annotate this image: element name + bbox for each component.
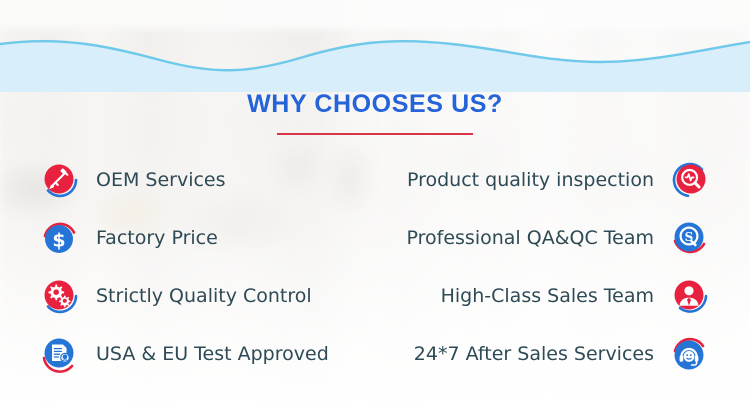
gears-icon — [38, 274, 82, 318]
headset-support-icon — [668, 332, 712, 376]
feature-label: Product quality inspection — [407, 169, 654, 191]
why-choose-us-banner: WHY CHOOSES US? — [0, 0, 750, 416]
feature-item[interactable]: Professional QA&QC Team S — [407, 216, 712, 260]
feature-label: USA & EU Test Approved — [96, 343, 329, 365]
feature-item[interactable]: OEM Services — [38, 158, 329, 202]
certificate-icon — [38, 332, 82, 376]
feature-item[interactable]: $ Factory Price — [38, 216, 329, 260]
heading-block: WHY CHOOSES US? — [0, 92, 750, 135]
features-columns: OEM Services $ Factory Price — [0, 158, 750, 376]
svg-text:$: $ — [52, 230, 65, 252]
features-right-column: Product quality inspection Professional … — [407, 158, 712, 376]
feature-label: High-Class Sales Team — [441, 285, 654, 307]
feature-label: 24*7 After Sales Services — [414, 343, 654, 365]
feature-item[interactable]: 24*7 After Sales Services — [407, 332, 712, 376]
quality-badge-icon: S — [668, 216, 712, 260]
businessman-icon — [668, 274, 712, 318]
feature-label: Strictly Quality Control — [96, 285, 312, 307]
feature-item[interactable]: Strictly Quality Control — [38, 274, 329, 318]
dollar-coin-icon: $ — [38, 216, 82, 260]
feature-item[interactable]: USA & EU Test Approved — [38, 332, 329, 376]
features-left-column: OEM Services $ Factory Price — [38, 158, 329, 376]
title-underline — [277, 133, 473, 135]
feature-item[interactable]: Product quality inspection — [407, 158, 712, 202]
top-wave-decoration — [0, 0, 750, 92]
svg-text:S: S — [685, 230, 694, 244]
feature-item[interactable]: High-Class Sales Team — [407, 274, 712, 318]
pen-design-icon — [38, 158, 82, 202]
feature-label: OEM Services — [96, 169, 226, 191]
inspection-magnifier-icon — [668, 158, 712, 202]
page-title: WHY CHOOSES US? — [0, 92, 750, 117]
feature-label: Factory Price — [96, 227, 218, 249]
feature-label: Professional QA&QC Team — [407, 227, 654, 249]
